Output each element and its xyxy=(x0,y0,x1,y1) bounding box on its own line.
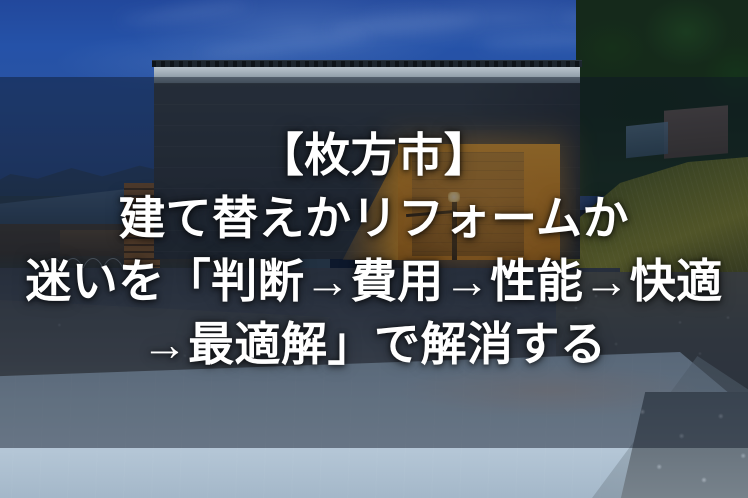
cloud-streak xyxy=(120,0,250,26)
house-roof-cap xyxy=(152,60,582,67)
headline-line-3: 迷いを「判断→費用→性能→快適 xyxy=(0,250,748,313)
cloud-streak xyxy=(330,11,481,37)
hero-banner: 【枚方市】 建て替えかリフォームか 迷いを「判断→費用→性能→快適 →最適解」で… xyxy=(0,0,748,498)
headline: 【枚方市】 建て替えかリフォームか 迷いを「判断→費用→性能→快適 →最適解」で… xyxy=(0,124,748,376)
cloud-streak xyxy=(200,31,370,60)
headline-line-4: →最適解」で解消する xyxy=(0,313,748,376)
headline-line-1: 【枚方市】 xyxy=(0,124,748,187)
headline-line-2: 建て替えかリフォームか xyxy=(0,187,748,250)
